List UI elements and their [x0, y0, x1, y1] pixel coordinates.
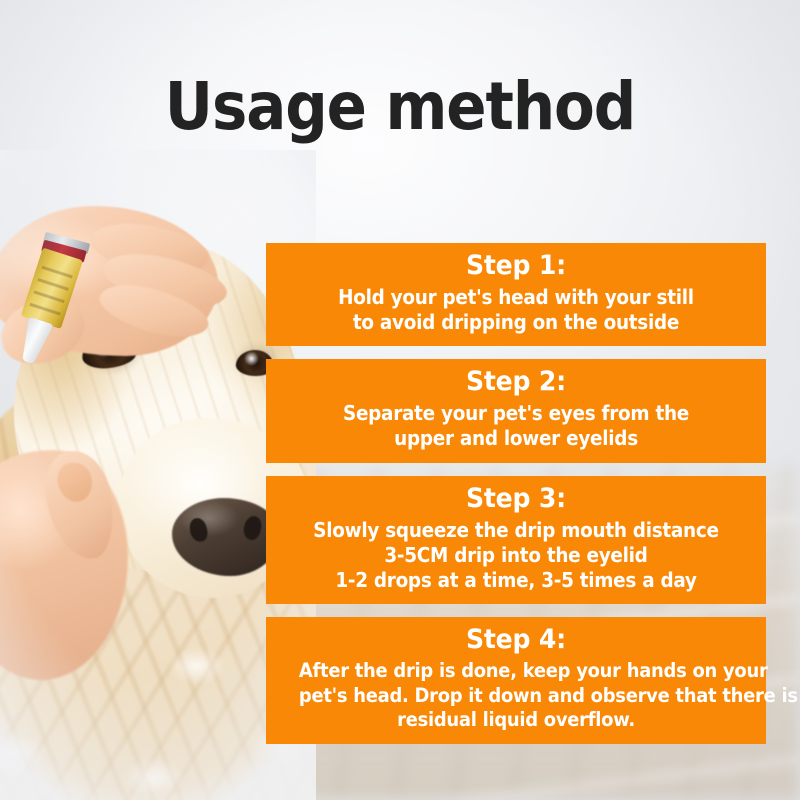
step-3-line-3: 1-2 drops at a time, 3-5 times a day: [299, 568, 733, 593]
step-4-line-1: After the drip is done, keep your hands …: [299, 659, 733, 684]
usage-method-poster: Usage method Step 1: Hold your pet's hea…: [0, 0, 800, 800]
step-card-1: Step 1: Hold your pet's head with your s…: [266, 243, 766, 346]
steps-list: Step 1: Hold your pet's head with your s…: [266, 243, 766, 744]
step-2-line-2: upper and lower eyelids: [299, 426, 733, 451]
step-2-body: Separate your pet's eyes from the upper …: [299, 401, 733, 451]
step-card-2: Step 2: Separate your pet's eyes from th…: [266, 359, 766, 462]
step-card-4: Step 4: After the drip is done, keep you…: [266, 617, 766, 744]
step-4-body: After the drip is done, keep your hands …: [299, 659, 733, 733]
step-2-heading: Step 2:: [297, 366, 736, 399]
step-2-line-1: Separate your pet's eyes from the: [299, 401, 733, 426]
step-3-heading: Step 3:: [297, 483, 736, 516]
step-card-3: Step 3: Slowly squeeze the drip mouth di…: [266, 476, 766, 605]
step-4-line-2: pet's head. Drop it down and observe tha…: [299, 684, 733, 709]
step-1-line-1: Hold your pet's head with your still: [299, 285, 733, 310]
step-3-line-1: Slowly squeeze the drip mouth distance: [299, 518, 733, 543]
step-1-heading: Step 1:: [297, 250, 736, 283]
step-3-line-2: 3-5CM drip into the eyelid: [299, 543, 733, 568]
step-4-heading: Step 4:: [297, 624, 736, 657]
step-1-line-2: to avoid dripping on the outside: [299, 310, 733, 335]
page-title: Usage method: [40, 74, 760, 140]
step-3-body: Slowly squeeze the drip mouth distance 3…: [299, 518, 733, 594]
step-1-body: Hold your pet's head with your still to …: [299, 285, 733, 335]
step-4-line-3: residual liquid overflow.: [299, 708, 733, 733]
